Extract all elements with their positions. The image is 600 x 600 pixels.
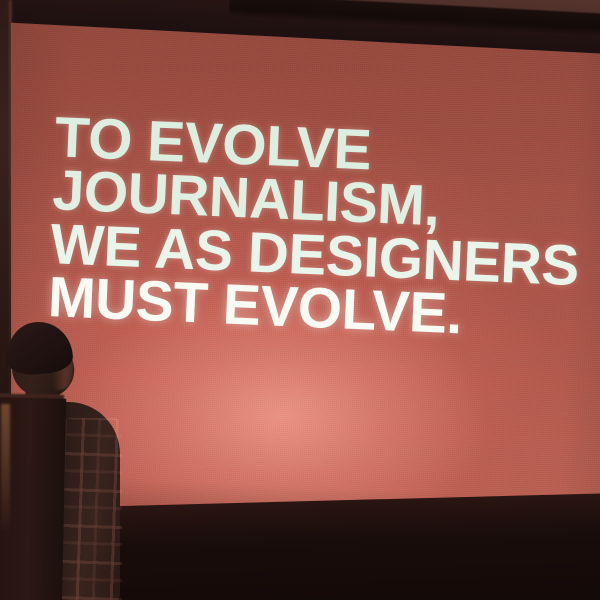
person-hair	[4, 319, 74, 377]
slide-headline: TO EVOLVE JOURNALISM, WE AS DESIGNERS MU…	[47, 111, 600, 349]
photograph-scene: TO EVOLVE JOURNALISM, WE AS DESIGNERS MU…	[0, 0, 600, 600]
lectern-edge-highlight	[1, 404, 10, 534]
